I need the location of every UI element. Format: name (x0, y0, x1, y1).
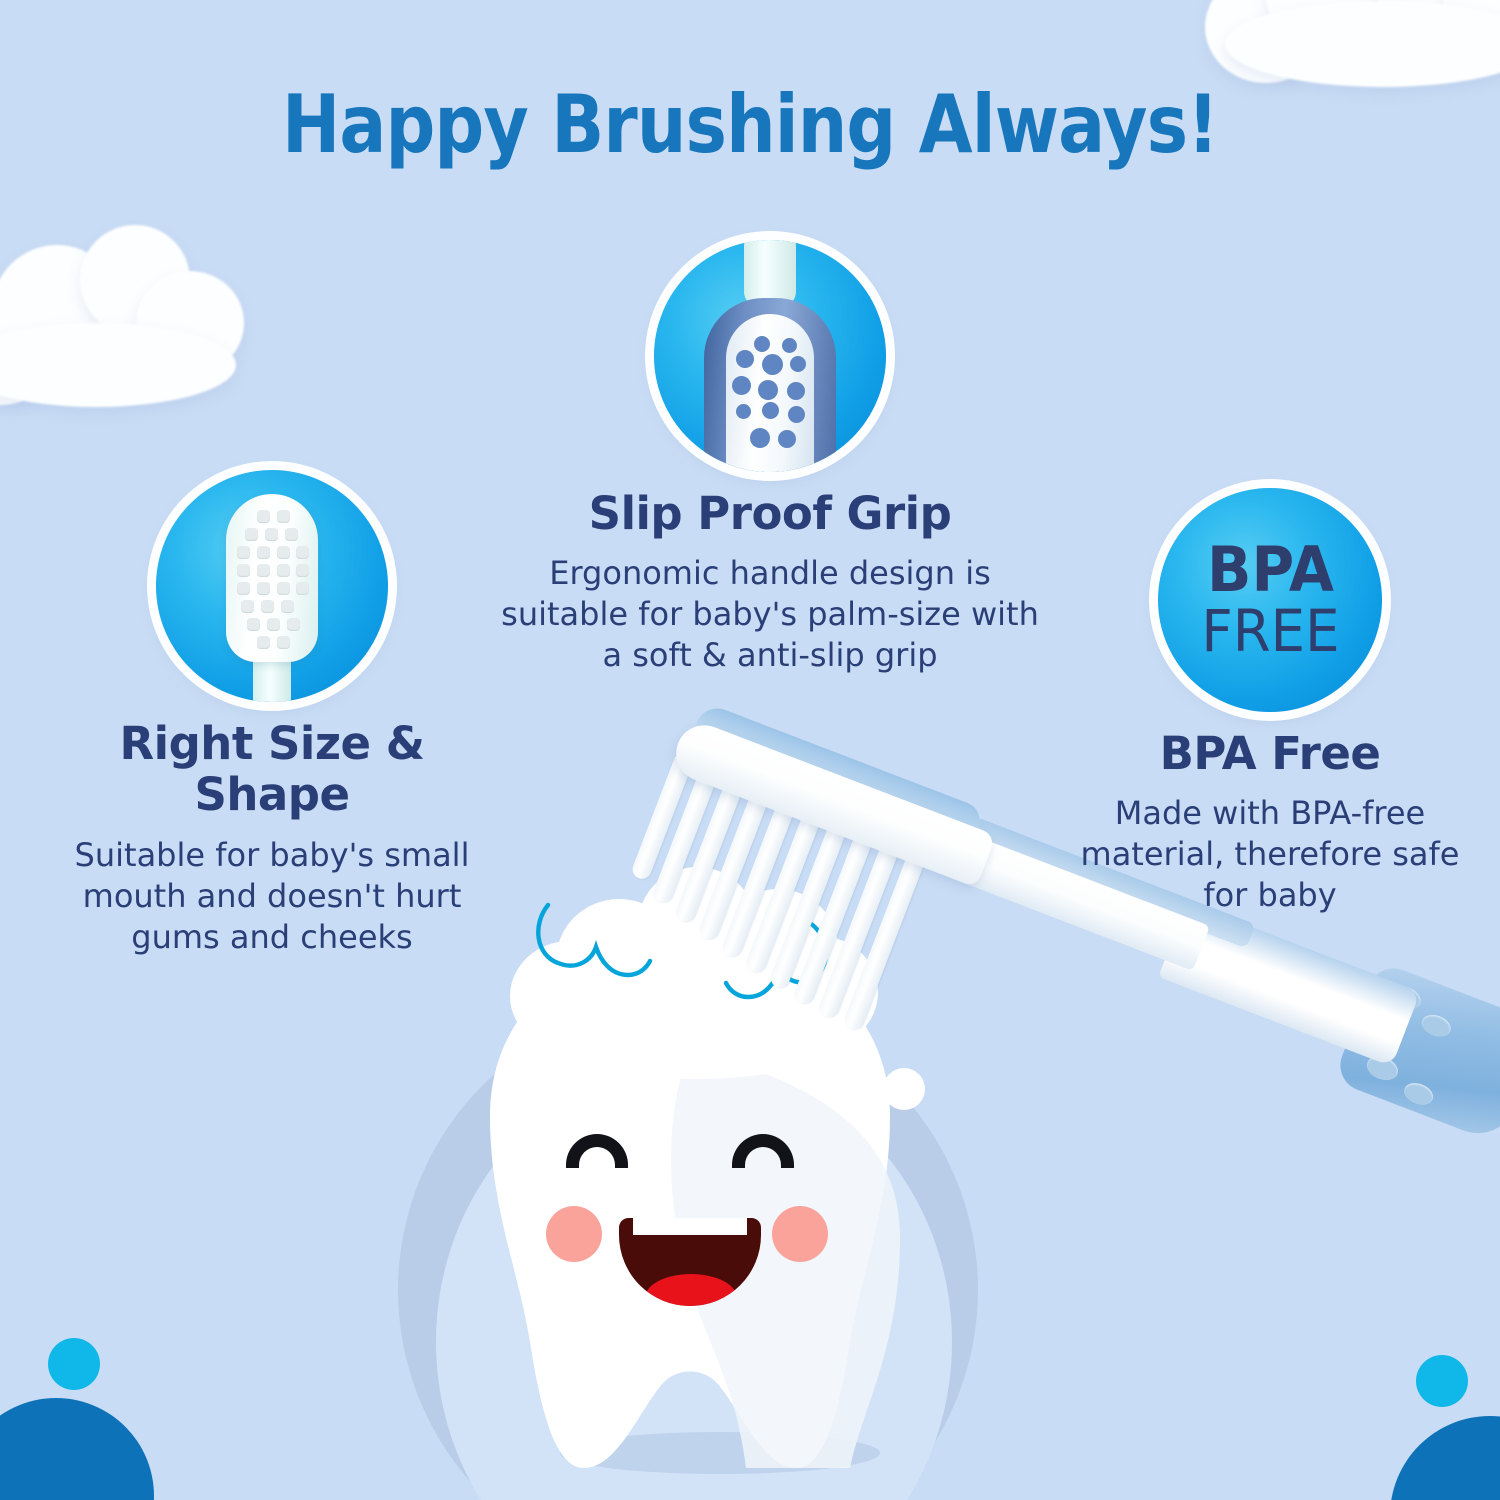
feature-right-size-shape: Right Size & Shape Suitable for baby's s… (42, 470, 502, 957)
toothbrush-grip-icon (654, 240, 886, 472)
decorative-dot-small-left (48, 1338, 100, 1390)
feature-body: Ergonomic handle design is suitable for … (500, 553, 1040, 676)
decorative-dot-large-right (1390, 1416, 1500, 1500)
cloud-icon-left (0, 225, 260, 415)
feature-heading: Slip Proof Grip (500, 488, 1040, 539)
bpa-free-badge-icon: BPA FREE (1158, 488, 1382, 712)
bristle-dots-group (235, 510, 309, 650)
bpa-badge-line1: BPA (1207, 540, 1334, 600)
page-title: Happy Brushing Always! (98, 78, 1403, 171)
feature-heading: Right Size & Shape (42, 718, 502, 821)
feature-body: Suitable for baby's small mouth and does… (42, 835, 502, 958)
feature-heading: BPA Free (1060, 728, 1480, 779)
feature-body: Made with BPA-free material, therefore s… (1060, 793, 1480, 916)
grip-dots-group (732, 336, 808, 456)
bpa-badge-line2: FREE (1201, 604, 1339, 660)
grip-neck-shape (744, 240, 796, 306)
decorative-dot-large-left (0, 1398, 154, 1500)
feature-bpa-free: BPA FREE BPA Free Made with BPA-free mat… (1060, 488, 1480, 916)
feature-slip-proof-grip: Slip Proof Grip Ergonomic handle design … (500, 240, 1040, 676)
decorative-dot-small-right (1416, 1355, 1468, 1407)
toothbrush-head-icon (156, 470, 388, 702)
poster-canvas: Happy Brushing Always! (0, 0, 1500, 1500)
